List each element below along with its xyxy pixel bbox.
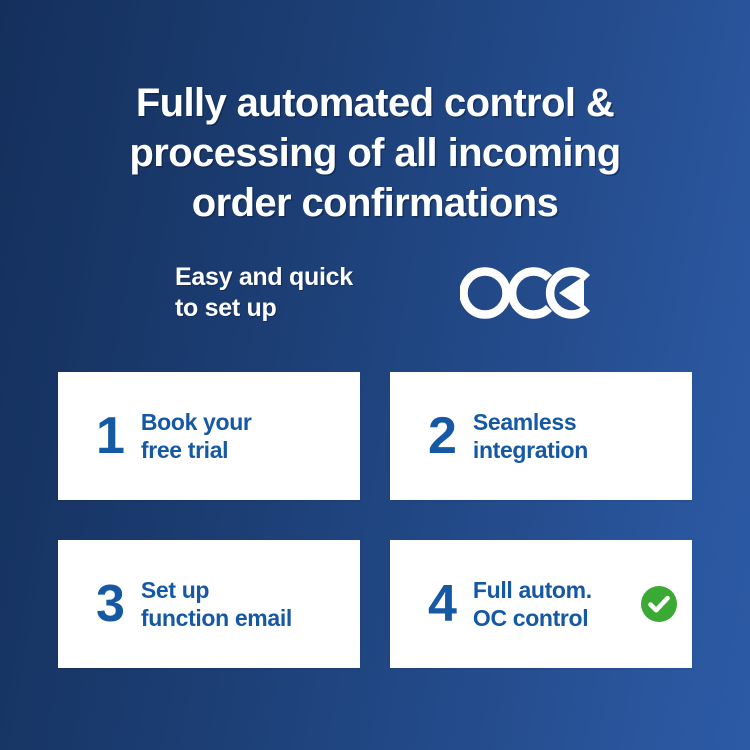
step-label: Set up function email [141, 576, 346, 633]
tagline: Easy and quick to set up [175, 262, 353, 323]
steps-grid: 1 Book your free trial 2 Seamless integr… [58, 372, 692, 668]
step-label-line-1: Seamless [473, 408, 678, 436]
step-label-line-1: Full autom. [473, 576, 634, 604]
step-label: Full autom. OC control [473, 576, 634, 633]
promo-graphic: Fully automated control & processing of … [0, 0, 750, 750]
step-label-line-1: Book your [141, 408, 346, 436]
headline-line-2: processing of all incoming [0, 128, 750, 178]
step-card-4[interactable]: 4 Full autom. OC control [390, 540, 692, 668]
step-label-line-2: integration [473, 436, 678, 464]
occ-logo-icon [460, 264, 590, 322]
step-label-line-2: free trial [141, 436, 346, 464]
check-circle-icon [640, 585, 678, 623]
step-card-1[interactable]: 1 Book your free trial [58, 372, 360, 500]
step-number: 4 [428, 578, 456, 630]
step-label-line-2: OC control [473, 604, 634, 632]
step-label: Book your free trial [141, 408, 346, 465]
step-card-3[interactable]: 3 Set up function email [58, 540, 360, 668]
page-title: Fully automated control & processing of … [0, 78, 750, 228]
step-label-line-1: Set up [141, 576, 346, 604]
step-label-line-2: function email [141, 604, 346, 632]
step-number: 3 [96, 578, 124, 630]
step-card-2[interactable]: 2 Seamless integration [390, 372, 692, 500]
tagline-line-1: Easy and quick [175, 262, 353, 293]
step-number: 2 [428, 410, 456, 462]
step-label: Seamless integration [473, 408, 678, 465]
step-number: 1 [96, 410, 124, 462]
headline-line-1: Fully automated control & [0, 78, 750, 128]
tagline-logo-row: Easy and quick to set up [58, 262, 692, 332]
headline-line-3: order confirmations [0, 178, 750, 228]
tagline-line-2: to set up [175, 293, 353, 324]
